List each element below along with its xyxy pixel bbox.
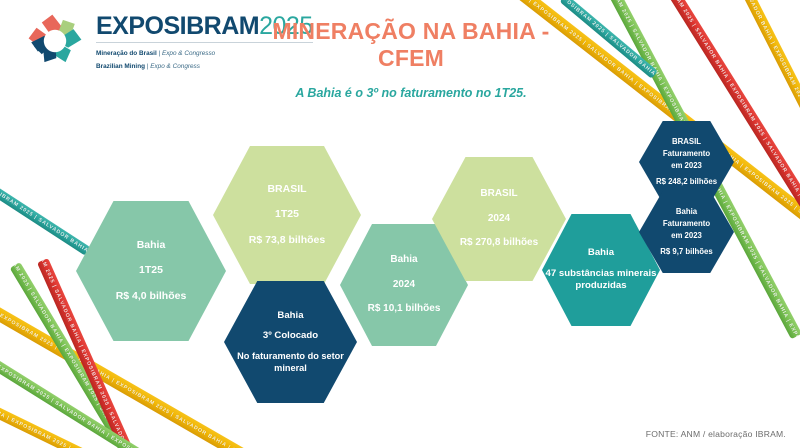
hexagon-line: BRASIL (672, 137, 701, 147)
header-block: MINERAÇÃO NA BAHIA - CFEM A Bahia é o 3º… (246, 18, 576, 100)
slide-canvas: SALVADOR BAHIA | EXPOSIBRAM 2025 | SALVA… (0, 0, 800, 448)
hexagon-line: em 2023 (671, 161, 702, 171)
hexagon-line: 1T25 (139, 264, 163, 277)
hexagon-bahia-3-colocado: Bahia 3º Colocado No faturamento do seto… (224, 281, 357, 403)
ribbon-yellow-bottom-2: SALVADOR BAHIA | EXPOSIBRAM 2025 | SALVA… (0, 398, 169, 448)
hexagon-line: BRASIL (267, 183, 306, 196)
hexagon-line: 1T25 (275, 208, 299, 221)
hexagon-line: Bahia (277, 310, 303, 322)
hexagon-line: em 2023 (671, 231, 702, 241)
hexagon-line: Bahia (390, 254, 417, 267)
hexagon-line: Bahia (676, 207, 697, 217)
hexagon-line: 2024 (488, 213, 510, 226)
logo-tagline-pt-rest: | Expo & Congresso (157, 50, 216, 57)
hexagon-value: No faturamento do setor mineral (224, 350, 357, 375)
ribbon-label: SALVADOR BAHIA | EXPOSIBRAM 2025 | SALVA… (0, 336, 155, 448)
hexagon-line: Bahia (137, 239, 166, 252)
hexagon-value: R$ 10,1 bilhões (368, 303, 441, 316)
logo-tagline-en-rest: | Expo & Congress (145, 63, 200, 70)
source-note: FONTE: ANM / elaboração IBRAM. (646, 429, 786, 439)
hexagon-line: Bahia (588, 247, 614, 259)
ribbon-green-bottom-2: SALVADOR BAHIA | EXPOSIBRAM 2025 | SALVA… (0, 336, 155, 448)
hexagon-value: 47 substâncias minerais produzidas (542, 268, 660, 293)
hexagon-value: R$ 248,2 bilhões (656, 177, 717, 187)
hexagon-line: Faturamento (663, 219, 710, 229)
hexagon-line: BRASIL (480, 188, 517, 201)
ribbon-teal-left: SALVADOR BAHIA | EXPOSIBRAM 2025 | SALVA… (0, 182, 91, 256)
hexagon-line: 3º Colocado (263, 330, 318, 342)
hexagon-value: R$ 4,0 bilhões (116, 290, 187, 303)
ribbon-label: SALVADOR BAHIA | EXPOSIBRAM 2025 | SALVA… (0, 182, 91, 256)
logo-word-main: EXPOSIBRAM (96, 12, 259, 40)
ribbon-label: SALVADOR BAHIA | EXPOSIBRAM 2025 | SALVA… (732, 0, 800, 242)
hexagon-line: Faturamento (663, 149, 710, 159)
exposibram-pinwheel-logo-icon (22, 8, 88, 74)
logo-tagline-en-bold: Brazilian Mining (96, 63, 145, 70)
hexagon-brasil-1t25: BRASIL 1T25 R$ 73,8 bilhões (213, 146, 361, 284)
hexagon-value: R$ 73,8 bilhões (249, 234, 325, 247)
page-title: MINERAÇÃO NA BAHIA - CFEM (246, 18, 576, 72)
logo-tagline-pt-bold: Mineração do Brasil (96, 50, 157, 57)
hexagon-brasil-2023: BRASIL Faturamento em 2023 R$ 248,2 bilh… (639, 121, 734, 203)
hexagon-line: 2024 (393, 279, 415, 292)
ribbon-label: SALVADOR BAHIA | EXPOSIBRAM 2025 | SALVA… (0, 398, 169, 448)
hexagon-value: R$ 9,7 bilhões (660, 247, 712, 257)
ribbon-yellow-top-2: SALVADOR BAHIA | EXPOSIBRAM 2025 | SALVA… (732, 0, 800, 242)
hexagon-bahia-1t25: Bahia 1T25 R$ 4,0 bilhões (76, 201, 226, 341)
hexagon-value: R$ 270,8 bilhões (460, 237, 538, 250)
page-subtitle: A Bahia é o 3º no faturamento no 1T25. (246, 86, 576, 100)
